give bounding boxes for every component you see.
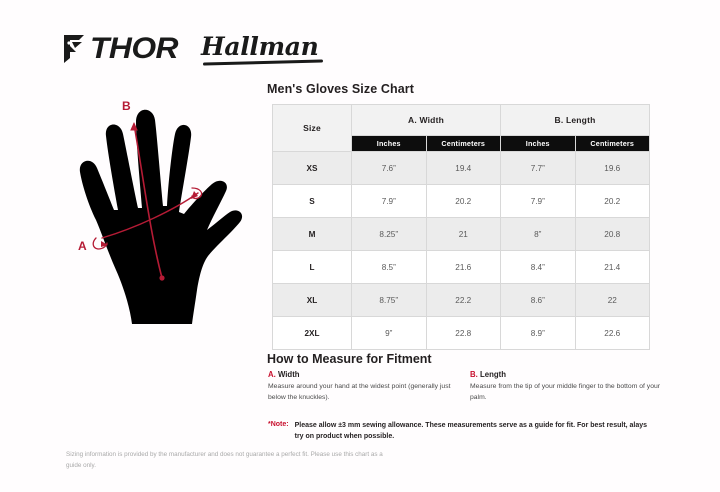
brand-logos: THOR Hallman bbox=[62, 28, 319, 70]
cell-width-centimeters: 20.2 bbox=[426, 185, 501, 218]
cell-length-centimeters: 21.4 bbox=[575, 251, 650, 284]
table-row: 2XL 9” 22.8 8.9” 22.6 bbox=[273, 317, 650, 350]
cell-width-inches: 9” bbox=[352, 317, 427, 350]
page-title: Men's Gloves Size Chart bbox=[267, 82, 414, 96]
column-header-length: B. Length bbox=[501, 105, 650, 136]
measure-width-body: Measure around your hand at the widest p… bbox=[268, 382, 464, 403]
cell-width-centimeters: 22.2 bbox=[426, 284, 501, 317]
note-row: *Note: Please allow ±3 mm sewing allowan… bbox=[268, 420, 653, 442]
cell-length-centimeters: 19.6 bbox=[575, 152, 650, 185]
table-header: Size A. Width B. Length Inches Centimete… bbox=[273, 105, 650, 152]
table-body: XS 7.6” 19.4 7.7” 19.6 S 7.9” 20.2 7.9” … bbox=[273, 152, 650, 350]
cell-length-centimeters: 20.8 bbox=[575, 218, 650, 251]
column-header-width-centimeters: Centimeters bbox=[426, 135, 501, 151]
table-header-row-groups: Size A. Width B. Length bbox=[273, 105, 650, 136]
diagram-label-a: A bbox=[78, 239, 87, 253]
cell-width-inches: 7.6” bbox=[352, 152, 427, 185]
measure-width-heading: A. Width bbox=[268, 370, 464, 379]
measure-instruction-width: A. Width Measure around your hand at the… bbox=[268, 370, 464, 403]
column-header-width-inches: Inches bbox=[352, 135, 427, 151]
column-header-size: Size bbox=[273, 105, 352, 152]
thor-emblem-icon bbox=[62, 34, 88, 64]
cell-length-inches: 7.9” bbox=[501, 185, 576, 218]
cell-length-inches: 8.4” bbox=[501, 251, 576, 284]
howto-title: How to Measure for Fitment bbox=[267, 352, 432, 366]
cell-length-inches: 8” bbox=[501, 218, 576, 251]
cell-size: XS bbox=[273, 152, 352, 185]
cell-length-centimeters: 22 bbox=[575, 284, 650, 317]
column-header-length-centimeters: Centimeters bbox=[575, 135, 650, 151]
measure-length-body: Measure from the tip of your middle fing… bbox=[470, 382, 666, 403]
hallman-wordmark: Hallman bbox=[201, 32, 319, 61]
column-header-length-inches: Inches bbox=[501, 135, 576, 151]
thor-wordmark: THOR bbox=[90, 34, 178, 64]
cell-size: S bbox=[273, 185, 352, 218]
cell-width-inches: 7.9” bbox=[352, 185, 427, 218]
hand-diagram-svg: B A bbox=[66, 92, 276, 332]
table-row: L 8.5” 21.6 8.4” 21.4 bbox=[273, 251, 650, 284]
cell-size: L bbox=[273, 251, 352, 284]
cell-length-inches: 8.6” bbox=[501, 284, 576, 317]
table-row: XS 7.6” 19.4 7.7” 19.6 bbox=[273, 152, 650, 185]
measure-length-name: Length bbox=[478, 370, 506, 379]
cell-length-centimeters: 20.2 bbox=[575, 185, 650, 218]
thor-logo: THOR bbox=[62, 34, 173, 64]
size-chart-page: THOR Hallman B A Men's Gloves Size Ch bbox=[0, 0, 720, 492]
cell-width-inches: 8.5” bbox=[352, 251, 427, 284]
column-header-width: A. Width bbox=[352, 105, 501, 136]
note-label: *Note: bbox=[268, 420, 289, 442]
note-text: Please allow ±3 mm sewing allowance. The… bbox=[295, 420, 653, 442]
measure-width-letter: A. bbox=[268, 370, 276, 379]
measure-length-heading: B. Length bbox=[470, 370, 666, 379]
cell-width-inches: 8.75” bbox=[352, 284, 427, 317]
cell-length-inches: 7.7” bbox=[501, 152, 576, 185]
measure-instruction-length: B. Length Measure from the tip of your m… bbox=[470, 370, 666, 403]
cell-width-centimeters: 22.8 bbox=[426, 317, 501, 350]
cell-length-inches: 8.9” bbox=[501, 317, 576, 350]
diagram-label-b: B bbox=[122, 99, 131, 113]
cell-width-centimeters: 19.4 bbox=[426, 152, 501, 185]
cell-size: XL bbox=[273, 284, 352, 317]
measure-width-name: Width bbox=[276, 370, 300, 379]
cell-width-inches: 8.25” bbox=[352, 218, 427, 251]
size-chart-table: Size A. Width B. Length Inches Centimete… bbox=[272, 104, 650, 350]
measure-line-b-end-dot bbox=[159, 275, 164, 280]
cell-length-centimeters: 22.6 bbox=[575, 317, 650, 350]
cell-width-centimeters: 21 bbox=[426, 218, 501, 251]
table-row: M 8.25” 21 8” 20.8 bbox=[273, 218, 650, 251]
table-row: XL 8.75” 22.2 8.6” 22 bbox=[273, 284, 650, 317]
hand-silhouette-shape bbox=[80, 110, 242, 324]
footer-disclaimer: Sizing information is provided by the ma… bbox=[66, 449, 386, 471]
cell-size: M bbox=[273, 218, 352, 251]
measure-length-letter: B. bbox=[470, 370, 478, 379]
hallman-logo: Hallman bbox=[201, 34, 319, 65]
hand-measurement-diagram: B A bbox=[66, 92, 276, 332]
cell-width-centimeters: 21.6 bbox=[426, 251, 501, 284]
table-row: S 7.9” 20.2 7.9” 20.2 bbox=[273, 185, 650, 218]
cell-size: 2XL bbox=[273, 317, 352, 350]
